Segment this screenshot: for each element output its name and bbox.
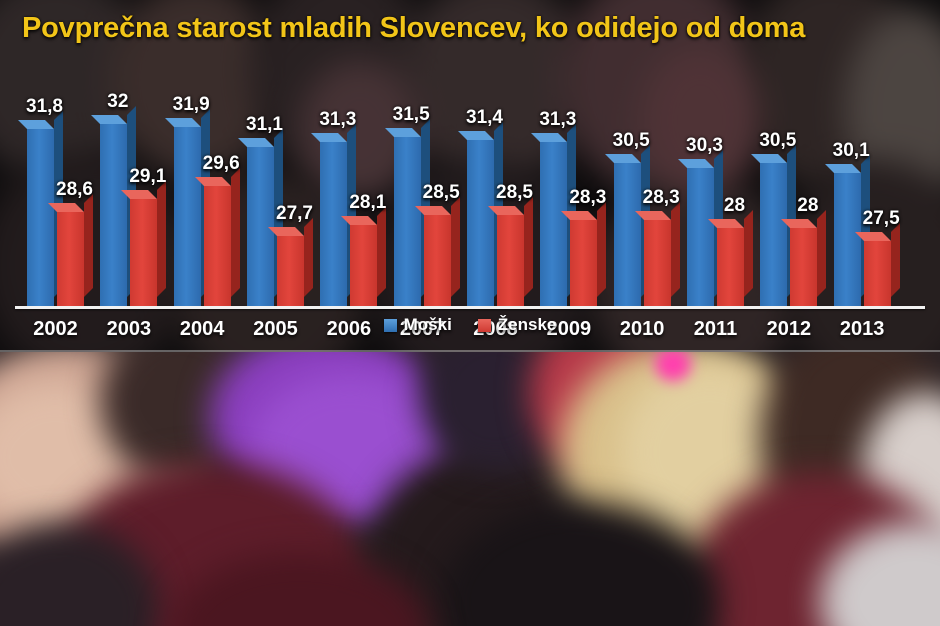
bar-moski-2012[interactable] bbox=[760, 163, 787, 306]
bar-value-label-zenske-2008: 28,5 bbox=[496, 182, 533, 204]
bar-value-label-zenske-2013: 27,5 bbox=[863, 208, 900, 230]
bar-front-face bbox=[497, 215, 524, 306]
bar-value-label-zenske-2005: 27,7 bbox=[276, 203, 313, 225]
bar-moski-2007[interactable] bbox=[394, 137, 421, 306]
bar-value-label-moski-2013: 30,1 bbox=[833, 140, 870, 162]
bar-side-face bbox=[231, 168, 240, 297]
bar-moski-2004[interactable] bbox=[174, 127, 201, 306]
bar-moski-2013[interactable] bbox=[834, 173, 861, 306]
bar-zenske-2007[interactable] bbox=[424, 215, 451, 306]
bar-front-face bbox=[57, 212, 84, 306]
bar-top-face bbox=[311, 133, 347, 142]
bar-front-face bbox=[570, 220, 597, 306]
bar-top-face bbox=[165, 118, 201, 127]
bar-zenske-2011[interactable] bbox=[717, 228, 744, 306]
bar-front-face bbox=[717, 228, 744, 306]
bar-value-label-zenske-2006: 28,1 bbox=[349, 192, 386, 214]
bar-front-face bbox=[687, 168, 714, 306]
bar-value-label-moski-2011: 30,3 bbox=[686, 135, 723, 157]
bar-top-face bbox=[91, 115, 127, 124]
bar-moski-2006[interactable] bbox=[320, 142, 347, 306]
bar-side-face bbox=[157, 181, 166, 297]
bar-side-face bbox=[671, 202, 680, 297]
bar-value-label-zenske-2012: 28 bbox=[797, 195, 818, 217]
bar-side-face bbox=[524, 197, 533, 297]
bar-front-face bbox=[394, 137, 421, 306]
bar-zenske-2009[interactable] bbox=[570, 220, 597, 306]
bar-moski-2008[interactable] bbox=[467, 140, 494, 306]
plot-area: 31,828,620023229,1200331,929,6200431,127… bbox=[0, 40, 940, 272]
bar-top-face bbox=[18, 120, 54, 129]
bar-moski-2011[interactable] bbox=[687, 168, 714, 306]
bar-zenske-2005[interactable] bbox=[277, 236, 304, 306]
bar-group-2008: 31,428,52008 bbox=[467, 40, 524, 272]
bar-value-label-zenske-2007: 28,5 bbox=[423, 182, 460, 204]
bar-value-label-moski-2005: 31,1 bbox=[246, 114, 283, 136]
crowd-photo-content bbox=[0, 352, 940, 626]
bar-front-face bbox=[790, 228, 817, 306]
bar-front-face bbox=[27, 129, 54, 306]
bar-group-2013: 30,127,52013 bbox=[834, 40, 891, 272]
bar-group-2009: 31,328,32009 bbox=[540, 40, 597, 272]
chart-panel: Povprečna starost mladih Slovencev, ko o… bbox=[0, 0, 940, 352]
bar-value-label-moski-2007: 31,5 bbox=[393, 104, 430, 126]
bar-front-face bbox=[350, 225, 377, 306]
bar-side-face bbox=[304, 218, 313, 297]
bar-value-label-moski-2012: 30,5 bbox=[759, 130, 796, 152]
bar-zenske-2010[interactable] bbox=[644, 220, 671, 306]
bar-zenske-2012[interactable] bbox=[790, 228, 817, 306]
bar-group-2002: 31,828,62002 bbox=[27, 40, 84, 272]
bar-value-label-zenske-2009: 28,3 bbox=[569, 187, 606, 209]
bar-top-face bbox=[825, 164, 861, 173]
bar-front-face bbox=[760, 163, 787, 306]
bar-value-label-moski-2002: 31,8 bbox=[26, 96, 63, 118]
bar-zenske-2006[interactable] bbox=[350, 225, 377, 306]
red-square-icon bbox=[478, 319, 491, 332]
bar-top-face bbox=[458, 131, 494, 140]
bar-group-2011: 30,3282011 bbox=[687, 40, 744, 272]
infographic-root: Povprečna starost mladih Slovencev, ko o… bbox=[0, 0, 940, 626]
bar-zenske-2013[interactable] bbox=[864, 241, 891, 306]
bar-moski-2003[interactable] bbox=[100, 124, 127, 306]
bar-value-label-zenske-2002: 28,6 bbox=[56, 179, 93, 201]
bar-value-label-moski-2006: 31,3 bbox=[319, 109, 356, 131]
bar-moski-2009[interactable] bbox=[540, 142, 567, 306]
bar-side-face bbox=[744, 210, 753, 297]
bar-group-2010: 30,528,32010 bbox=[614, 40, 671, 272]
blue-square-icon bbox=[384, 319, 397, 332]
bar-front-face bbox=[320, 142, 347, 306]
bar-group-2004: 31,929,62004 bbox=[174, 40, 231, 272]
bar-value-label-zenske-2004: 29,6 bbox=[203, 153, 240, 175]
bar-value-label-moski-2010: 30,5 bbox=[613, 130, 650, 152]
bar-group-2006: 31,328,12006 bbox=[320, 40, 377, 272]
bar-zenske-2002[interactable] bbox=[57, 212, 84, 306]
bar-top-face bbox=[385, 128, 421, 137]
bar-front-face bbox=[644, 220, 671, 306]
bar-side-face bbox=[891, 223, 900, 297]
legend-label-zenske: Ženske bbox=[498, 315, 557, 335]
bar-front-face bbox=[277, 236, 304, 306]
bar-value-label-moski-2009: 31,3 bbox=[539, 109, 576, 131]
bar-value-label-moski-2004: 31,9 bbox=[173, 94, 210, 116]
bar-side-face bbox=[597, 202, 606, 297]
bar-group-2003: 3229,12003 bbox=[100, 40, 157, 272]
background-crowd-photo-bottom bbox=[0, 352, 940, 626]
bar-top-face bbox=[751, 154, 787, 163]
chart-legend: Moški Ženske bbox=[0, 315, 940, 335]
bar-front-face bbox=[424, 215, 451, 306]
bar-top-face bbox=[531, 133, 567, 142]
bar-front-face bbox=[130, 199, 157, 306]
bar-top-face bbox=[678, 159, 714, 168]
bar-front-face bbox=[864, 241, 891, 306]
bar-top-face bbox=[605, 154, 641, 163]
bar-zenske-2003[interactable] bbox=[130, 199, 157, 306]
bar-front-face bbox=[540, 142, 567, 306]
bar-front-face bbox=[467, 140, 494, 306]
bar-group-2005: 31,127,72005 bbox=[247, 40, 304, 272]
bar-value-label-moski-2003: 32 bbox=[107, 91, 128, 113]
bar-front-face bbox=[100, 124, 127, 306]
bar-value-label-zenske-2003: 29,1 bbox=[129, 166, 166, 188]
bar-group-2012: 30,5282012 bbox=[760, 40, 817, 272]
bar-side-face bbox=[451, 197, 460, 297]
bar-moski-2010[interactable] bbox=[614, 163, 641, 306]
bar-top-face bbox=[238, 138, 274, 147]
bar-side-face bbox=[377, 207, 386, 297]
bar-zenske-2008[interactable] bbox=[497, 215, 524, 306]
bar-moski-2002[interactable] bbox=[27, 129, 54, 306]
x-axis-line bbox=[15, 306, 925, 309]
bar-zenske-2004[interactable] bbox=[204, 186, 231, 306]
bar-group-2007: 31,528,52007 bbox=[394, 40, 451, 272]
legend-item-moski: Moški bbox=[384, 315, 452, 335]
bar-side-face bbox=[817, 210, 826, 297]
bar-value-label-zenske-2011: 28 bbox=[724, 195, 745, 217]
bar-front-face bbox=[174, 127, 201, 306]
legend-item-zenske: Ženske bbox=[478, 315, 557, 335]
bar-front-face bbox=[204, 186, 231, 306]
bar-side-face bbox=[84, 194, 93, 297]
bar-value-label-moski-2008: 31,4 bbox=[466, 107, 503, 129]
bar-value-label-zenske-2010: 28,3 bbox=[643, 187, 680, 209]
legend-label-moski: Moški bbox=[404, 315, 452, 335]
bar-front-face bbox=[834, 173, 861, 306]
bar-front-face bbox=[614, 163, 641, 306]
